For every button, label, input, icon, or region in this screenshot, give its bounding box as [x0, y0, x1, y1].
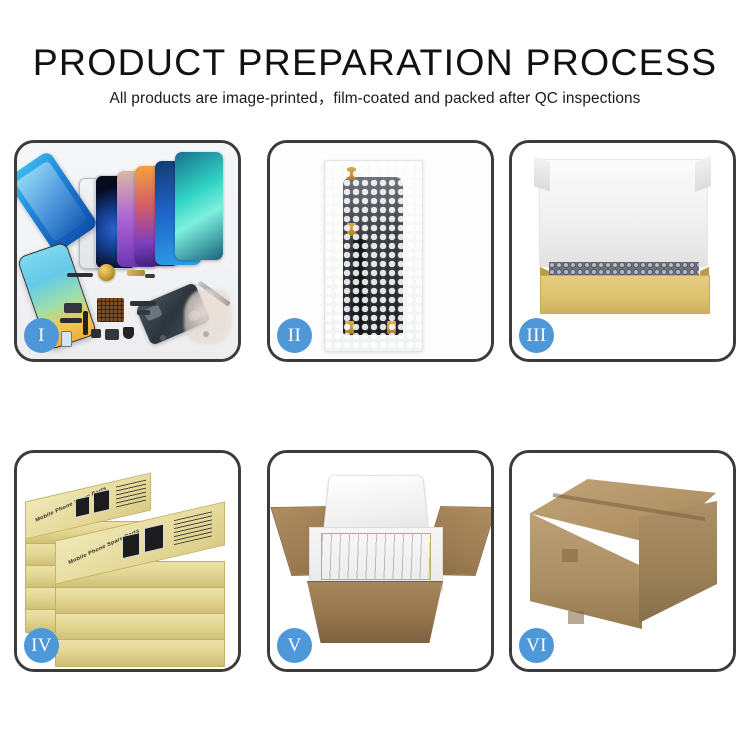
- bubble-film-texture: [325, 161, 422, 351]
- header: PRODUCT PREPARATION PROCESS All products…: [0, 0, 750, 130]
- box-screen-thumb-f1: [122, 532, 140, 559]
- stack-box-f3: [55, 613, 225, 641]
- carton-tab-lower: [568, 611, 584, 624]
- part-antenna-strip: [130, 301, 156, 306]
- step-badge-3: III: [519, 318, 554, 353]
- part-sim-tray: [61, 331, 72, 347]
- part-screw-1: [160, 335, 166, 341]
- part-cable-left: [60, 318, 82, 323]
- phone-teal-display: [175, 152, 223, 260]
- step-badge-2: II: [277, 318, 312, 353]
- lid-flap-right: [695, 156, 711, 191]
- page-title: PRODUCT PREPARATION PROCESS: [0, 40, 750, 84]
- part-chip-small: [91, 329, 101, 338]
- white-foam-lid: [539, 159, 708, 267]
- foam-lid: [323, 475, 429, 535]
- step-panel-2: II: [267, 140, 494, 362]
- part-speaker: [123, 327, 134, 339]
- lid-flap-left: [534, 156, 550, 191]
- screw-grid-part: [97, 298, 124, 322]
- phone-lineup-group: [79, 149, 238, 269]
- step-badge-5: V: [277, 628, 312, 663]
- part-camera-module: [105, 329, 119, 340]
- step-panel-4: Mobile Phone Spare Parts Mobile Phone Sp…: [14, 450, 241, 672]
- part-gold-connector: [127, 270, 145, 276]
- stack-box-f4: [55, 639, 225, 667]
- bubble-bag: [324, 160, 423, 352]
- part-flex-bar: [67, 273, 93, 277]
- box-screen-thumb-f2: [144, 523, 164, 553]
- box-screen-thumb-b1: [75, 496, 90, 518]
- box-spec-lines-f: [174, 511, 212, 545]
- page-subtitle: All products are image-printed，film-coat…: [0, 89, 750, 109]
- step-panel-1: I: [14, 140, 241, 362]
- stack-box-f2: [55, 587, 225, 615]
- step-panel-3: III: [509, 140, 736, 362]
- part-connector: [137, 310, 150, 315]
- steps-grid: I II III: [14, 140, 736, 685]
- yellow-boxes-inside: [321, 533, 431, 580]
- carton-front-panel: [307, 581, 443, 643]
- step-badge-1: I: [24, 318, 59, 353]
- part-small-clip: [145, 274, 155, 278]
- yellow-box-front: [540, 275, 710, 314]
- speaker-coil-part: [98, 264, 115, 281]
- step-panel-5: V: [267, 450, 494, 672]
- box-screen-thumb-b2: [93, 489, 110, 514]
- step-badge-6: VI: [519, 628, 554, 663]
- hand-blur: [184, 289, 232, 345]
- box-stack: Mobile Phone Spare Parts Mobile Phone Sp…: [23, 465, 238, 660]
- step-badge-4: IV: [24, 628, 59, 663]
- part-ribbon-vertical: [83, 311, 88, 335]
- part-bracket-left: [64, 303, 82, 313]
- step-panel-6: VI: [509, 450, 736, 672]
- carton-tab-upper: [562, 549, 578, 562]
- box-spec-lines-b: [116, 480, 146, 508]
